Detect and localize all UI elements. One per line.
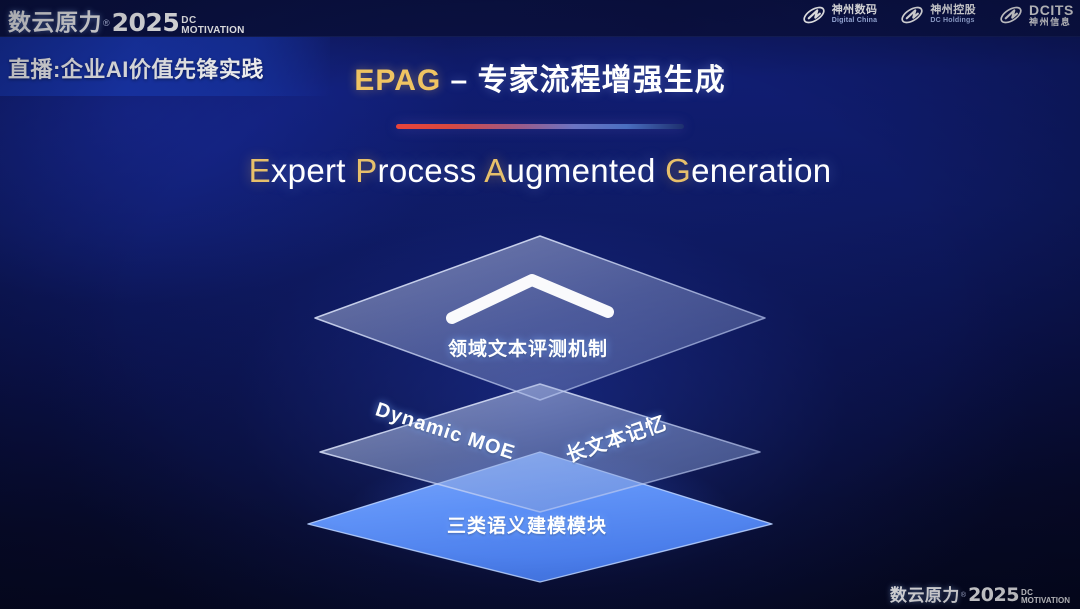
layer-top-label: 领域文本评测机制 xyxy=(448,334,608,361)
brand-name-cn: 数云原力 xyxy=(890,581,960,606)
brand-dc-motivation: DC MOTIVATION xyxy=(1021,589,1070,606)
brand-year: 2025 xyxy=(968,584,1019,606)
registered-mark: ® xyxy=(961,592,966,599)
brand-motivation-label: MOTIVATION xyxy=(1021,597,1070,605)
layer-stack-diagram: 领域文本评测机制 Dynamic MOE 长文本记忆 三类语义建模模块 xyxy=(0,0,1080,609)
slide-canvas: 数云原力 ® 2025 DC MOTIVATION 直播:企业AI价值先锋实践 … xyxy=(0,0,1080,609)
layer-bottom-label: 三类语义建模模块 xyxy=(447,511,607,538)
watermark-logo: 数云原力 ® 2025 DC MOTIVATION xyxy=(890,581,1070,606)
layer-top xyxy=(315,236,765,400)
